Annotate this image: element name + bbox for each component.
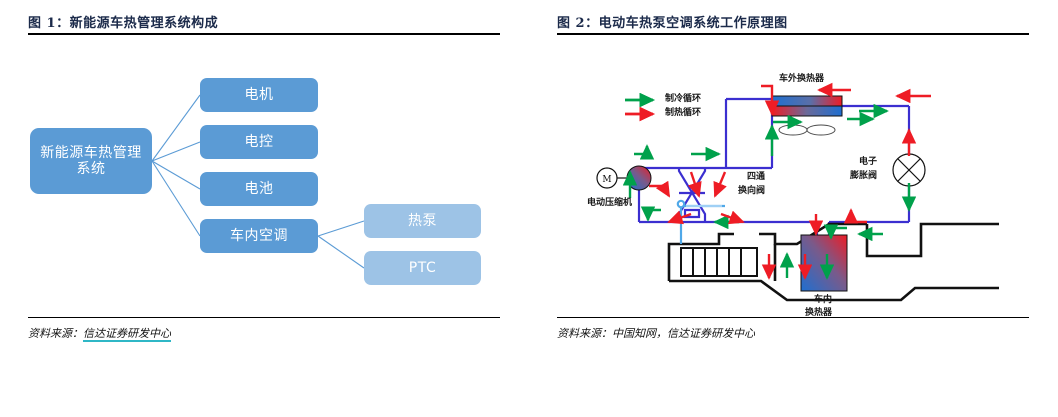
label-outdoor-heat-exchanger: 车外换热器 — [779, 74, 824, 85]
figure-1-top-rule — [28, 33, 500, 35]
node-heat-pump[interactable]: 热泵 — [364, 204, 481, 238]
node-motor[interactable]: 电机 — [200, 78, 318, 112]
label-four-way-valve-line2: 换向阀 — [738, 186, 765, 197]
node-cabin-ac[interactable]: 车内空调 — [200, 219, 318, 253]
node-root[interactable]: 新能源车热管理系统 — [30, 128, 152, 194]
outdoor-heat-exchanger-icon — [772, 96, 842, 116]
svg-text:M: M — [602, 175, 611, 185]
label-expansion-valve-line1: 电子 — [859, 157, 877, 168]
figure-2-diagram: M — [529, 38, 1058, 313]
figure-1-source: 资料来源：信达证券研发中心 — [28, 325, 171, 341]
label-indoor-heat-exchanger-line1: 车内 — [814, 295, 832, 306]
figure-2-source-body: 中国知网，信达证券研发中心 — [612, 327, 755, 340]
label-legend-cooling: 制冷循环 — [665, 94, 701, 105]
figure-1-source-link[interactable]: 信达证券研发中心 — [83, 327, 171, 342]
label-legend-heating: 制热循环 — [665, 108, 701, 119]
figure-1-panel: 图 1：新能源车热管理系统构成 新能源车热管理系统 电机 电控 电池 车内空调 … — [0, 0, 529, 417]
seat-icon — [681, 248, 757, 276]
figure-1-bottom-rule — [28, 317, 500, 318]
figure-2-panel: 图 2：电动车热泵空调系统工作原理图 — [529, 0, 1058, 417]
label-four-way-valve-line1: 四通 — [747, 172, 765, 183]
figure-1-source-prefix: 资料来源： — [28, 327, 83, 340]
figure-2-source-prefix: 资料来源： — [557, 327, 612, 340]
legend-arrows — [625, 100, 653, 114]
figure-2-title: 图 2：电动车热泵空调系统工作原理图 — [557, 12, 788, 31]
indoor-heat-exchanger-icon — [801, 235, 847, 291]
node-battery[interactable]: 电池 — [200, 172, 318, 206]
fan-icon — [779, 125, 835, 135]
figure-2-source: 资料来源：中国知网，信达证券研发中心 — [557, 325, 755, 341]
figure-1-diagram: 新能源车热管理系统 电机 电控 电池 车内空调 热泵 PTC — [0, 40, 529, 310]
figure-2-top-rule — [557, 33, 1029, 35]
figure-2-bottom-rule — [557, 317, 1029, 318]
compressor-icon: M — [597, 166, 651, 190]
node-ptc[interactable]: PTC — [364, 251, 481, 285]
expansion-valve-icon — [893, 154, 925, 186]
label-expansion-valve-line2: 膨胀阀 — [850, 171, 877, 182]
figure-1-title: 图 1：新能源车热管理系统构成 — [28, 12, 218, 31]
node-motor-control[interactable]: 电控 — [200, 125, 318, 159]
label-compressor: 电动压缩机 — [587, 198, 632, 209]
